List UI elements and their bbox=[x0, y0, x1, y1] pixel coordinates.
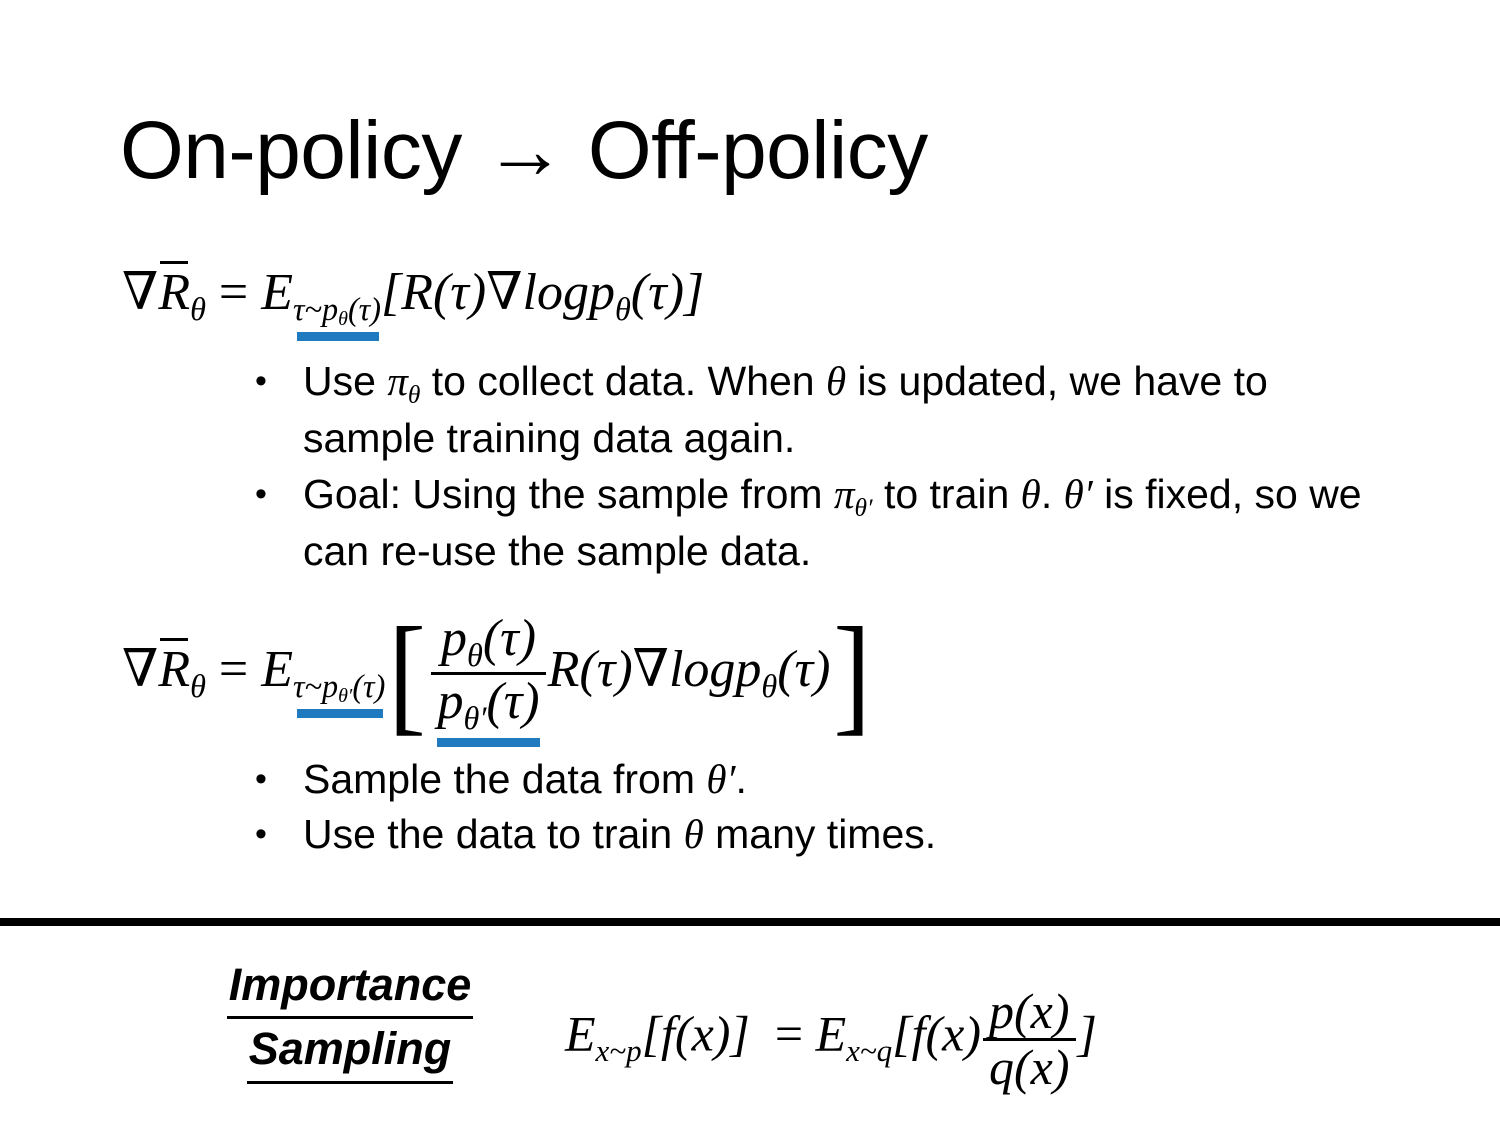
equation-body-tail: (τ)] bbox=[631, 264, 704, 321]
list-item: • Use πθ to collect data. When θ is upda… bbox=[255, 355, 1395, 466]
equals-sign: = bbox=[219, 264, 248, 321]
lhs-subscript: x~p bbox=[596, 1033, 642, 1069]
p-symbol: p bbox=[322, 291, 338, 327]
tau-dist-prefix: τ~ bbox=[293, 668, 322, 704]
bracket-close: ] bbox=[834, 622, 872, 725]
pi-char: π bbox=[387, 358, 408, 404]
theta-subscript: θ bbox=[190, 291, 206, 328]
bullet-marker: • bbox=[255, 808, 303, 861]
equation-body: [R(τ)∇logp bbox=[381, 264, 615, 321]
bullet-text: Sample the data from θ′. bbox=[303, 753, 1395, 806]
bullet-marker: • bbox=[255, 753, 303, 806]
importance-weight-fraction: pθ(τ) pθ′(τ) bbox=[431, 612, 545, 736]
tau-argument: (τ) bbox=[348, 291, 381, 327]
fraction-numerator: pθ(τ) bbox=[431, 612, 545, 672]
list-item: • Use the data to train θ many times. bbox=[255, 808, 1395, 861]
bullet-list-lower: • Sample the data from θ′. • Use the dat… bbox=[255, 753, 1395, 864]
theta-symbol: θ bbox=[1021, 471, 1041, 517]
list-item: • Goal: Using the sample from πθ′ to tra… bbox=[255, 468, 1395, 579]
bullet-fragment: Use bbox=[303, 358, 387, 404]
equals-sign: = bbox=[219, 641, 248, 698]
expectation-symbol-lhs: E bbox=[565, 1005, 596, 1061]
theta-prime-sub: θ′ bbox=[855, 492, 873, 525]
theta-symbol: θ bbox=[826, 358, 846, 404]
bullet-fragment: . bbox=[1041, 471, 1064, 517]
theta-prime-sub: θ′ bbox=[463, 702, 486, 736]
theta-subscript: θ bbox=[190, 668, 206, 705]
p-symbol: p bbox=[441, 610, 467, 667]
label-line-1: Importance bbox=[227, 955, 474, 1019]
expectation-symbol-rhs: E bbox=[816, 1005, 847, 1061]
tau-argument: (τ) bbox=[352, 668, 385, 704]
pi-char: π bbox=[834, 471, 855, 517]
tau-dist-prefix: τ~ bbox=[293, 291, 322, 327]
p-theta-subscript: θ bbox=[338, 308, 348, 331]
expectation-subscript-underlined: τ~pθ′(τ) bbox=[293, 668, 385, 709]
page-title: On-policy → Off-policy bbox=[120, 110, 928, 192]
nabla-icon: ∇ bbox=[122, 264, 158, 321]
theta-symbol: θ bbox=[684, 811, 704, 857]
bullet-fragment: to train bbox=[873, 471, 1021, 517]
importance-sampling-label: Importance Sampling bbox=[150, 955, 550, 1084]
bullet-fragment: Sample the data from bbox=[303, 756, 706, 802]
expectation-symbol: E bbox=[261, 641, 293, 698]
fraction-numerator: p(x) bbox=[983, 985, 1076, 1038]
r-bar-symbol: R bbox=[158, 640, 190, 699]
label-line-2: Sampling bbox=[247, 1019, 454, 1083]
bullet-text: Use the data to train θ many times. bbox=[303, 808, 1395, 861]
p-theta-prime-subscript: θ′ bbox=[338, 685, 352, 708]
theta-sub: θ bbox=[467, 639, 483, 673]
nabla-icon: ∇ bbox=[122, 641, 158, 698]
pi-theta-prime-symbol: πθ′ bbox=[834, 471, 873, 517]
theta-sub: θ bbox=[408, 379, 420, 412]
equation-on-policy-gradient: ∇Rθ = Eτ~pθ(τ)[R(τ)∇logpθ(τ)] bbox=[122, 262, 704, 331]
p-symbol: p bbox=[322, 668, 338, 704]
bullet-list-upper: • Use πθ to collect data. When θ is upda… bbox=[255, 355, 1395, 580]
equation-tail-end: (τ) bbox=[777, 641, 830, 698]
equation-importance-sampling: Ex~p[f(x)] = Ex~q[f(x) p(x) q(x) ] bbox=[565, 985, 1097, 1093]
lhs-body: [f(x)] bbox=[642, 1005, 750, 1061]
expectation-subscript-underlined: τ~pθ(τ) bbox=[293, 291, 381, 332]
bullet-marker: • bbox=[255, 355, 303, 408]
bullet-marker: • bbox=[255, 468, 303, 521]
theta-prime-symbol: θ′ bbox=[1064, 471, 1093, 517]
tau-argument: (τ) bbox=[483, 610, 536, 667]
section-divider bbox=[0, 918, 1500, 926]
theta-prime-symbol: θ′ bbox=[706, 756, 735, 802]
bullet-text: Goal: Using the sample from πθ′ to train… bbox=[303, 468, 1395, 579]
rhs-subscript: x~q bbox=[846, 1033, 892, 1069]
tau-argument: (τ) bbox=[486, 673, 539, 730]
body-theta-subscript: θ bbox=[615, 291, 631, 328]
bullet-fragment: Use the data to train bbox=[303, 811, 684, 857]
bullet-fragment: . bbox=[735, 756, 746, 802]
bullet-text: Use πθ to collect data. When θ is update… bbox=[303, 355, 1395, 466]
bracket-open: [ bbox=[389, 622, 427, 725]
rhs-body-open: [f(x) bbox=[892, 1005, 981, 1061]
equals-sign: = bbox=[775, 1005, 803, 1061]
bullet-fragment: many times. bbox=[704, 811, 936, 857]
expectation-symbol: E bbox=[261, 264, 293, 321]
equation-off-policy-gradient: ∇Rθ = Eτ~pθ′(τ)[ pθ(τ) pθ′(τ) R(τ)∇logpθ… bbox=[122, 612, 875, 736]
p-symbol: p bbox=[437, 673, 463, 730]
list-item: • Sample the data from θ′. bbox=[255, 753, 1395, 806]
fraction-denominator: pθ′(τ) bbox=[431, 672, 545, 735]
equation-tail: R(τ)∇logp bbox=[548, 641, 762, 698]
fraction-denominator: q(x) bbox=[983, 1038, 1076, 1094]
pi-theta-symbol: πθ bbox=[387, 358, 420, 404]
bullet-fragment: Goal: Using the sample from bbox=[303, 471, 834, 517]
rhs-close: ] bbox=[1078, 1005, 1097, 1061]
r-bar-symbol: R bbox=[158, 263, 190, 322]
density-ratio-fraction: p(x) q(x) bbox=[983, 985, 1076, 1093]
bullet-fragment: to collect data. When bbox=[420, 358, 826, 404]
tail-theta-subscript: θ bbox=[761, 668, 777, 705]
